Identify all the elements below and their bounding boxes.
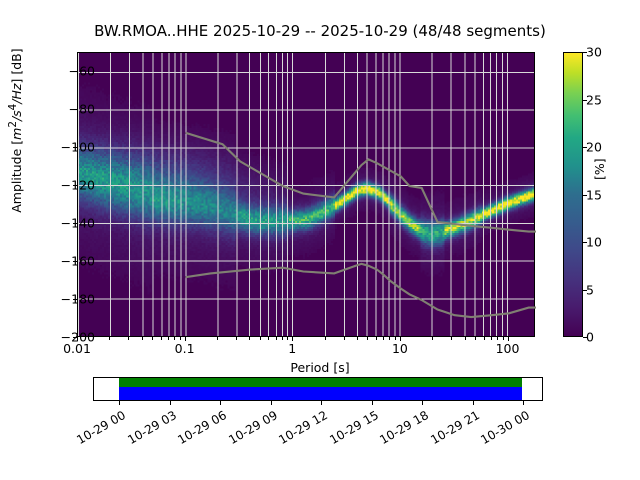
y-tick-mark: [73, 109, 77, 110]
coverage-band-blue: [119, 387, 522, 400]
x-tick-mark: [508, 337, 509, 341]
timeline-tick-mark: [422, 401, 423, 405]
x-tick-mark: [376, 337, 377, 340]
y-axis-label: Amplitude [m2/s4/Hz] [dB]: [7, 0, 24, 273]
y-tick-mark: [73, 185, 77, 186]
x-tick-mark: [484, 337, 485, 340]
timeline-tick-label: 10-30 00: [475, 408, 532, 449]
x-axis-label: Period [s]: [0, 360, 640, 375]
timeline-tick-mark: [372, 401, 373, 405]
colorbar-tick-label: 0: [586, 330, 594, 345]
x-tick-label: 1: [288, 341, 296, 356]
x-tick-label: 100: [496, 341, 520, 356]
x-tick-mark: [128, 337, 129, 340]
timeline-tick-mark: [321, 401, 322, 405]
y-tick-mark: [73, 299, 77, 300]
x-tick-mark: [367, 337, 368, 340]
timeline-tick-mark: [119, 401, 120, 405]
x-tick-mark: [497, 337, 498, 340]
colorbar-tick-label: 25: [586, 92, 602, 107]
x-tick-mark: [465, 337, 466, 340]
colorbar-label: [%]: [592, 158, 607, 180]
colorbar-tick-mark: [583, 147, 587, 148]
y-tick-label: −100: [61, 140, 95, 155]
data-coverage-timeline[interactable]: [93, 377, 543, 401]
colorbar-tick-mark: [583, 290, 587, 291]
page-title: BW.RMOA..HHE 2025-10-29 -- 2025-10-29 (4…: [0, 22, 640, 40]
x-tick-mark: [142, 337, 143, 340]
colorbar-tick-label: 5: [586, 282, 594, 297]
timeline-tick-label: 10-29 09: [222, 408, 279, 449]
timeline-tick-label: 10-29 00: [71, 408, 128, 449]
x-tick-mark: [475, 337, 476, 340]
x-tick-mark: [260, 337, 261, 340]
x-tick-mark: [357, 337, 358, 340]
x-tick-mark: [344, 337, 345, 340]
noise-model-curves: [78, 53, 536, 338]
x-tick-mark: [180, 337, 181, 340]
x-tick-mark: [383, 337, 384, 340]
x-tick-mark: [268, 337, 269, 340]
x-tick-mark: [174, 337, 175, 340]
y-tick-label: −180: [61, 292, 95, 307]
x-tick-mark: [168, 337, 169, 340]
y-tick-mark: [73, 147, 77, 148]
x-tick-mark: [276, 337, 277, 340]
x-tick-mark: [282, 337, 283, 340]
timeline-tick-label: 10-29 21: [424, 408, 481, 449]
timeline-tick-mark: [523, 401, 524, 405]
x-tick-mark: [109, 337, 110, 340]
x-tick-mark: [432, 337, 433, 340]
y-tick-mark: [73, 223, 77, 224]
colorbar-tick-label: 15: [586, 187, 602, 202]
x-tick-mark: [152, 337, 153, 340]
x-tick-mark: [400, 337, 401, 341]
x-tick-mark: [287, 337, 288, 340]
timeline-tick-label: 10-29 18: [374, 408, 431, 449]
y-tick-label: −140: [61, 216, 95, 231]
colorbar-tick-mark: [583, 52, 587, 53]
nlnm-curve: [186, 264, 536, 317]
x-tick-label: 0.01: [63, 341, 91, 356]
colorbar: [563, 52, 583, 337]
timeline-tick-mark: [220, 401, 221, 405]
timeline-tick-mark: [271, 401, 272, 405]
x-tick-mark: [217, 337, 218, 340]
x-tick-mark: [491, 337, 492, 340]
colorbar-tick-mark: [583, 195, 587, 196]
x-tick-mark: [292, 337, 293, 341]
colorbar-tick-label: 20: [586, 140, 602, 155]
x-tick-mark: [77, 337, 78, 341]
x-tick-mark: [185, 337, 186, 341]
colorbar-tick-mark: [583, 100, 587, 101]
x-tick-label: 0.1: [175, 341, 195, 356]
ppsd-plot-area: [77, 52, 535, 337]
coverage-band-green: [119, 378, 522, 387]
colorbar-tick-label: 30: [586, 45, 602, 60]
x-tick-mark: [451, 337, 452, 340]
timeline-tick-label: 10-29 06: [172, 408, 229, 449]
ppsd-figure: BW.RMOA..HHE 2025-10-29 -- 2025-10-29 (4…: [0, 0, 640, 480]
y-tick-mark: [73, 71, 77, 72]
timeline-tick-mark: [473, 401, 474, 405]
timeline-tick-label: 10-29 15: [323, 408, 380, 449]
timeline-tick-label: 10-29 12: [273, 408, 330, 449]
timeline-tick-label: 10-29 03: [121, 408, 178, 449]
colorbar-tick-label: 10: [586, 235, 602, 250]
colorbar-tick-mark: [583, 337, 587, 338]
y-tick-label: −160: [61, 254, 95, 269]
x-tick-mark: [503, 337, 504, 340]
x-tick-mark: [389, 337, 390, 340]
x-tick-mark: [395, 337, 396, 340]
timeline-tick-mark: [170, 401, 171, 405]
y-tick-mark: [73, 261, 77, 262]
nhnm-curve: [186, 133, 536, 232]
y-tick-label: −120: [61, 178, 95, 193]
x-tick-mark: [249, 337, 250, 340]
x-tick-mark: [325, 337, 326, 340]
x-tick-label: 10: [392, 341, 408, 356]
colorbar-tick-mark: [583, 242, 587, 243]
x-tick-mark: [161, 337, 162, 340]
x-tick-mark: [236, 337, 237, 340]
